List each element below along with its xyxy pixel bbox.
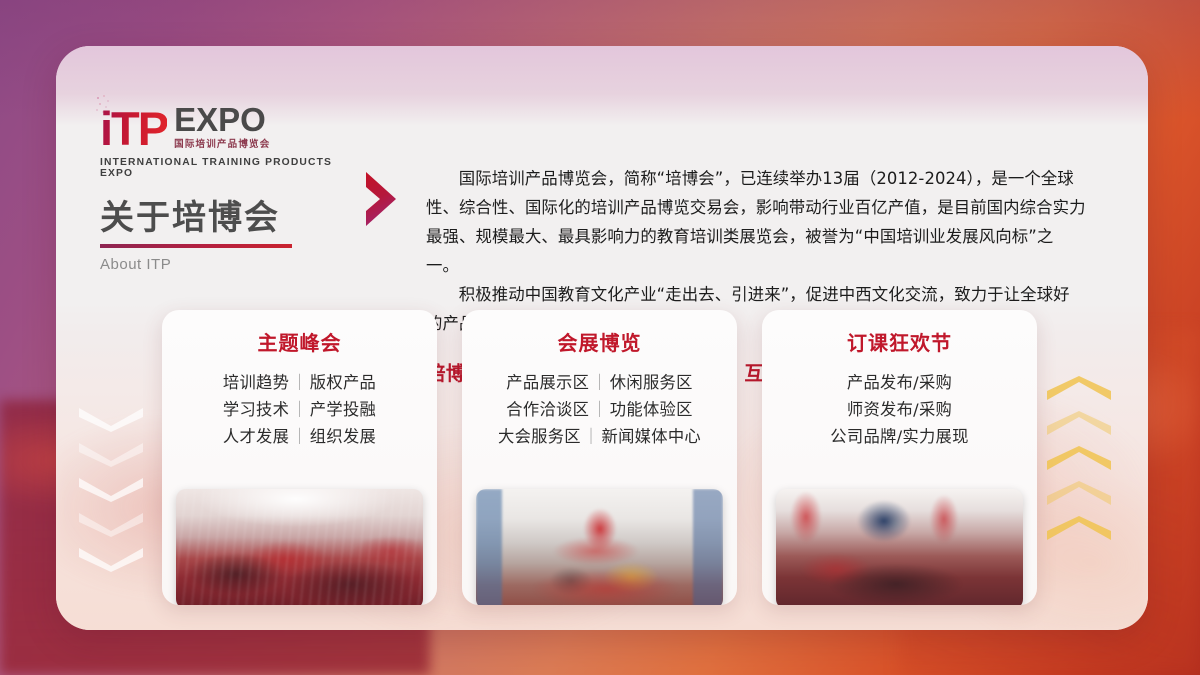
chevron-up-icon	[1044, 376, 1114, 402]
chevron-right-icon	[362, 170, 408, 228]
feature-line-left: 合作洽谈区	[506, 400, 589, 419]
chevron-down-icon	[76, 476, 146, 502]
feature-line-separator: ｜	[289, 373, 310, 392]
feature-line: 学习技术｜产学投融	[176, 396, 423, 423]
feature-line: 师资发布/采购	[776, 396, 1023, 423]
content-panel: iTP EXPO 国际培训产品博览会 INTERNATIONAL TRAININ…	[56, 46, 1148, 630]
feature-line-left: 人才发展	[223, 427, 289, 446]
feature-line-right: 功能体验区	[610, 400, 693, 419]
feature-line-right: 版权产品	[310, 373, 376, 392]
chevron-down-stack	[76, 406, 152, 581]
feature-card-photo	[476, 489, 723, 605]
feature-line-separator: ｜	[289, 400, 310, 419]
chevron-down-icon	[76, 441, 146, 467]
feature-line-separator: ｜	[581, 427, 602, 446]
feature-card[interactable]: 会展博览 产品展示区｜休闲服务区 合作洽谈区｜功能体验区 大会服务区｜新闻媒体中…	[462, 310, 737, 605]
feature-line-right: 产学投融	[310, 400, 376, 419]
logo-english-subtitle: INTERNATIONAL TRAINING PRODUCTS EXPO	[100, 157, 350, 179]
feature-line-left: 产品展示区	[506, 373, 589, 392]
feature-line: 产品发布/采购	[776, 369, 1023, 396]
feature-line-left: 学习技术	[223, 400, 289, 419]
itp-expo-logo: iTP EXPO 国际培训产品博览会	[100, 106, 350, 152]
logo-expo-text: EXPO	[174, 104, 270, 135]
feature-card[interactable]: 主题峰会 培训趋势｜版权产品 学习技术｜产学投融 人才发展｜组织发展	[162, 310, 437, 605]
feature-line-separator: ｜	[589, 400, 610, 419]
feature-card-lines: 产品展示区｜休闲服务区 合作洽谈区｜功能体验区 大会服务区｜新闻媒体中心	[476, 369, 723, 450]
feature-card-photo	[176, 489, 423, 605]
logo-itp-wordmark: iTP	[100, 105, 167, 152]
feature-line: 产品展示区｜休闲服务区	[476, 369, 723, 396]
chevron-up-icon	[1044, 481, 1114, 507]
feature-line: 合作洽谈区｜功能体验区	[476, 396, 723, 423]
title-underline-rule	[100, 244, 292, 248]
section-title: 关于培博会	[100, 201, 350, 235]
brand-block: iTP EXPO 国际培训产品博览会 INTERNATIONAL TRAININ…	[100, 106, 350, 273]
feature-line: 人才发展｜组织发展	[176, 423, 423, 450]
chevron-up-stack	[1044, 376, 1120, 551]
feature-card-title: 会展博览	[558, 327, 642, 356]
feature-line-left: 大会服务区	[498, 427, 581, 446]
slide-canvas: iTP EXPO 国际培训产品博览会 INTERNATIONAL TRAININ…	[0, 0, 1200, 675]
about-paragraph-1: 国际培训产品博览会，简称“培博会”，已连续举办13届（2012-2024），是一…	[426, 164, 1086, 280]
logo-chinese-name: 国际培训产品博览会	[174, 136, 270, 150]
feature-card-title: 订课狂欢节	[847, 327, 952, 356]
feature-line-separator: ｜	[289, 427, 310, 446]
logo-spark-icon	[95, 95, 111, 117]
feature-card-list: 主题峰会 培训趋势｜版权产品 学习技术｜产学投融 人才发展｜组织发展 会展博览	[162, 310, 1037, 605]
feature-card-lines: 培训趋势｜版权产品 学习技术｜产学投融 人才发展｜组织发展	[176, 369, 423, 450]
feature-line-right: 组织发展	[310, 427, 376, 446]
chevron-down-icon	[76, 546, 146, 572]
feature-card-photo	[776, 489, 1023, 605]
feature-line: 培训趋势｜版权产品	[176, 369, 423, 396]
feature-card[interactable]: 订课狂欢节 产品发布/采购 师资发布/采购 公司品牌/实力展现	[762, 310, 1037, 605]
chevron-down-icon	[76, 511, 146, 537]
feature-card-lines: 产品发布/采购 师资发布/采购 公司品牌/实力展现	[776, 369, 1023, 450]
feature-line-left: 培训趋势	[223, 373, 289, 392]
feature-line-separator: ｜	[589, 373, 610, 392]
section-title-english: About ITP	[100, 256, 350, 273]
feature-line-right: 新闻媒体中心	[602, 427, 702, 446]
chevron-up-icon	[1044, 446, 1114, 472]
feature-line-right: 休闲服务区	[610, 373, 693, 392]
logo-expo-block: EXPO 国际培训产品博览会	[174, 104, 270, 152]
feature-card-title: 主题峰会	[258, 327, 342, 356]
chevron-up-icon	[1044, 411, 1114, 437]
feature-line: 公司品牌/实力展现	[776, 423, 1023, 450]
chevron-up-icon	[1044, 516, 1114, 542]
chevron-down-icon	[76, 406, 146, 432]
feature-line: 大会服务区｜新闻媒体中心	[476, 423, 723, 450]
